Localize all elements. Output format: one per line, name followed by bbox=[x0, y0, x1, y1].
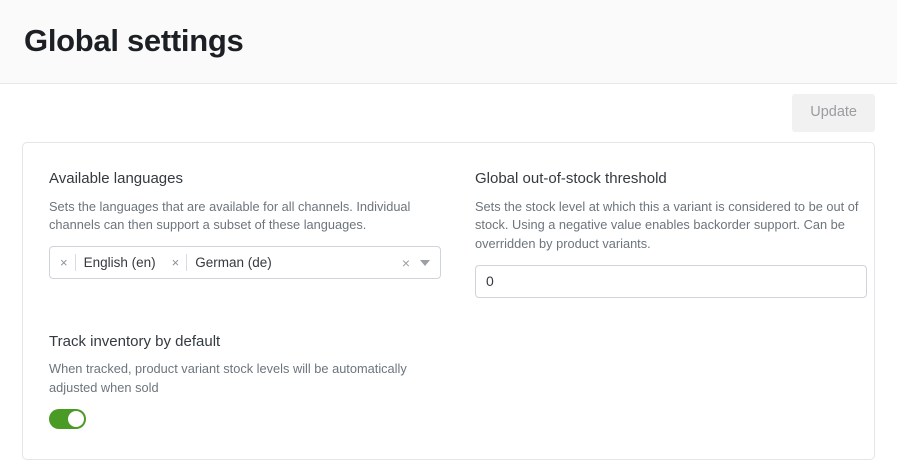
track-inventory-description: When tracked, product variant stock leve… bbox=[49, 360, 441, 398]
chevron-down-icon[interactable] bbox=[420, 260, 430, 266]
close-icon[interactable]: × bbox=[170, 256, 187, 269]
chip-label: German (de) bbox=[195, 256, 272, 270]
available-languages-multiselect[interactable]: × English (en) × German (de) × bbox=[49, 246, 441, 279]
out-of-stock-threshold-description: Sets the stock level at which this a var… bbox=[475, 198, 867, 254]
action-bar: Update bbox=[0, 84, 897, 142]
language-chip-list: × English (en) × German (de) bbox=[58, 252, 402, 273]
close-icon[interactable]: × bbox=[58, 256, 75, 269]
clear-all-icon[interactable]: × bbox=[402, 256, 410, 270]
available-languages-description: Sets the languages that are available fo… bbox=[49, 198, 441, 236]
chip-label: English (en) bbox=[84, 256, 156, 270]
settings-row-2-spacer bbox=[475, 332, 867, 429]
list-item[interactable]: × English (en) bbox=[58, 252, 156, 273]
available-languages-field: Available languages Sets the languages t… bbox=[49, 169, 441, 298]
page-title: Global settings bbox=[24, 24, 243, 58]
settings-row-2: Track inventory by default When tracked,… bbox=[49, 332, 848, 429]
update-button[interactable]: Update bbox=[792, 94, 875, 131]
global-settings-page: Global settings Update Available languag… bbox=[0, 0, 897, 471]
list-item[interactable]: × German (de) bbox=[170, 252, 272, 273]
settings-card: Available languages Sets the languages t… bbox=[22, 142, 875, 460]
multiselect-actions: × bbox=[402, 256, 434, 270]
toggle-knob bbox=[68, 411, 84, 427]
out-of-stock-threshold-field: Global out-of-stock threshold Sets the s… bbox=[475, 169, 867, 298]
settings-row-1: Available languages Sets the languages t… bbox=[49, 169, 848, 298]
out-of-stock-threshold-label: Global out-of-stock threshold bbox=[475, 169, 867, 189]
track-inventory-field: Track inventory by default When tracked,… bbox=[49, 332, 441, 429]
available-languages-label: Available languages bbox=[49, 169, 441, 189]
track-inventory-toggle[interactable] bbox=[49, 409, 86, 429]
track-inventory-label: Track inventory by default bbox=[49, 332, 441, 352]
chip-divider bbox=[186, 254, 187, 271]
chip-divider bbox=[75, 254, 76, 271]
page-header: Global settings bbox=[0, 0, 897, 84]
out-of-stock-threshold-input[interactable] bbox=[475, 265, 867, 298]
